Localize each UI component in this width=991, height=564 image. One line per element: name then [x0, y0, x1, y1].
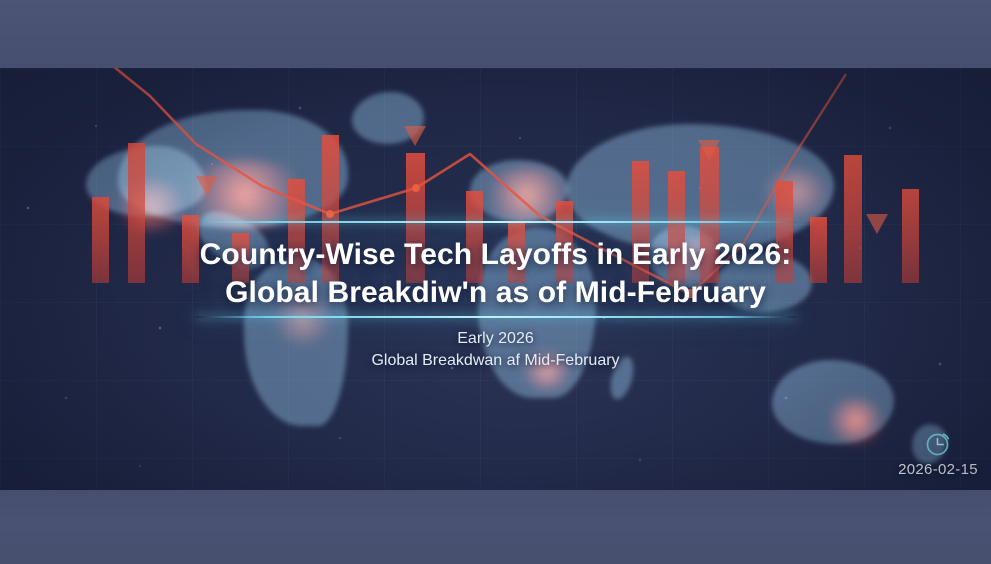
- divider-rule-top: [196, 221, 796, 223]
- video-frame: Country-Wise Tech Layoffs in Early 2026:…: [0, 0, 991, 564]
- clock-icon: [923, 428, 953, 458]
- letterbox-bottom: [0, 490, 991, 564]
- subtitle-block: Early 2026 Global Breakdwan af Mid-Febru…: [0, 328, 991, 372]
- page-title-line-2: Global Breakdiw'n as of Mid-February: [0, 274, 991, 312]
- title-block: Country-Wise Tech Layoffs in Early 2026:…: [0, 236, 991, 312]
- divider-rule-bottom: [196, 316, 796, 318]
- timestamp-badge: 2026-02-15: [888, 428, 988, 478]
- subtitle-line-1: Early 2026: [0, 328, 991, 350]
- timestamp-date: 2026-02-15: [888, 461, 988, 478]
- letterbox-top: [0, 0, 991, 68]
- subtitle-line-2: Global Breakdwan af Mid-February: [0, 350, 991, 372]
- page-title-line-1: Country-Wise Tech Layoffs in Early 2026:: [0, 236, 991, 274]
